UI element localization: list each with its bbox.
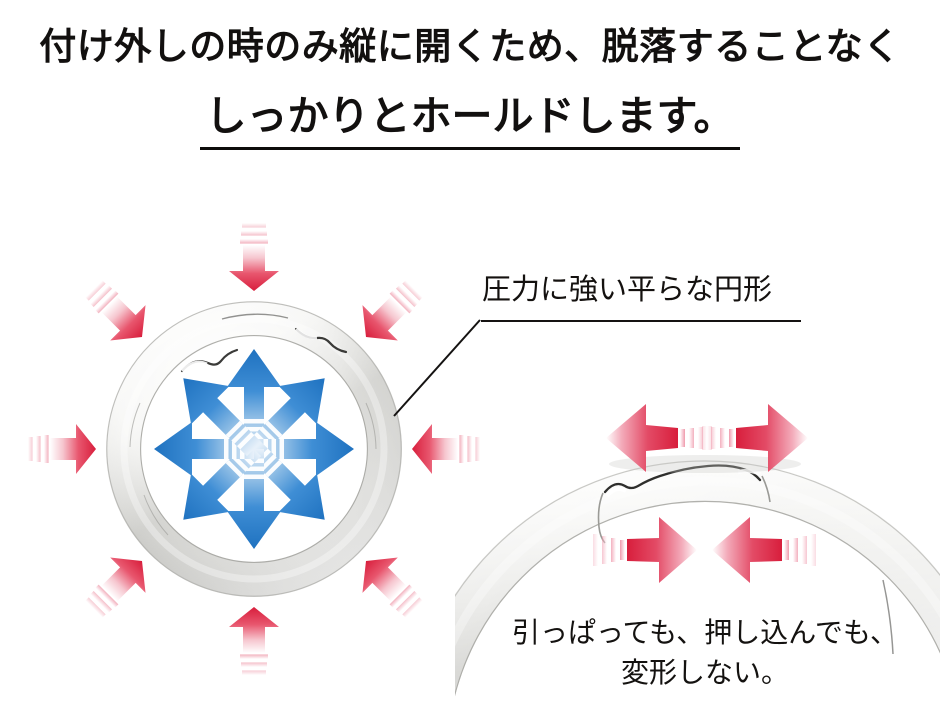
- headline-line-2-wrapper: しっかりとホールドします。: [0, 92, 940, 150]
- callout-underline: [481, 320, 801, 322]
- red-arrow-left: [28, 424, 96, 474]
- callout-label: 圧力に強い平らな円形: [470, 272, 800, 308]
- callout-leader-line: [392, 318, 488, 418]
- headline-line-2: しっかりとホールドします。: [200, 92, 741, 150]
- red-arrow-top: [229, 223, 279, 291]
- flat-split-key-ring-illustration: [104, 299, 404, 599]
- ring-left-figure: [104, 299, 404, 599]
- headline-line-1: 付け外しの時のみ縦に開くため、脱落することなく: [0, 26, 940, 70]
- callout-pressure-resistant: 圧力に強い平らな円形: [470, 272, 800, 308]
- infographic-canvas: 付け外しの時のみ縦に開くため、脱落することなく しっかりとホールドします。: [0, 0, 940, 708]
- caption-no-deformation: 引っぱっても、押し込んでも、 変形しない。: [470, 614, 940, 694]
- red-arrow-bottom: [229, 607, 279, 675]
